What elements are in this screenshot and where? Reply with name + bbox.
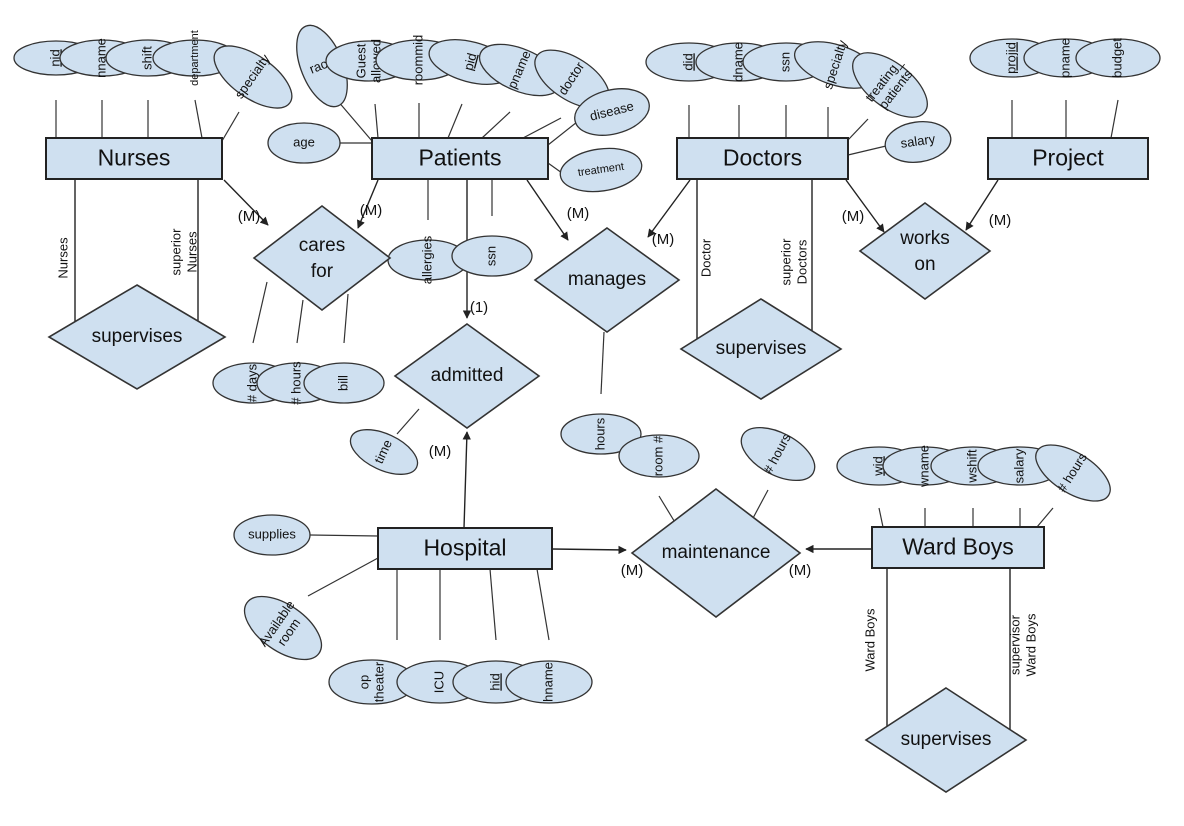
er-diagram-canvas: nidnnameshiftdepartmentspecialtyageraceG… (0, 0, 1184, 826)
attribute-salary[interactable]: salary (883, 118, 954, 167)
cardinality-label: (M) (621, 562, 644, 579)
attribute-label: allergies (419, 235, 434, 284)
relationship-supervises-doctors[interactable]: supervises (681, 299, 841, 399)
entity-wardboys[interactable]: Ward Boys (872, 527, 1044, 568)
attribute-label: roommid (410, 35, 425, 86)
role-label-nurses: Nurses (55, 237, 70, 279)
role-label-superior-nurses: superiorNurses (168, 228, 199, 276)
attribute-ellipses-layer: nidnnameshiftdepartmentspecialtyageraceG… (14, 18, 1160, 704)
attribute-label: age (293, 134, 315, 149)
relationship-label: supervises (716, 338, 807, 359)
relationship-label: works (899, 228, 950, 249)
relationship-diamond (860, 203, 990, 299)
relationship-label: for (311, 261, 334, 282)
entity-label: Doctors (723, 145, 802, 171)
attribute-label: wshift (964, 449, 979, 484)
entity-label: Ward Boys (902, 534, 1014, 560)
attribute-treatment[interactable]: treatment (557, 143, 644, 196)
attribute-label: wname (916, 445, 931, 488)
attribute-label: ICU (431, 671, 446, 693)
role-label-text: Nurses (55, 237, 70, 279)
role-label-text: Nurses (184, 231, 199, 273)
attribute-age[interactable]: age (268, 123, 340, 163)
cardinality-label: (M) (238, 208, 261, 225)
relationship-label: manages (568, 269, 646, 290)
attribute-label: hours (592, 417, 607, 450)
role-label-ward-boys: Ward Boys (862, 608, 877, 672)
role-label-text: supervisor (1007, 614, 1022, 675)
relationship-cares-for[interactable]: caresfor (254, 206, 390, 310)
role-label-text: Ward Boys (1023, 613, 1038, 677)
entity-patients[interactable]: Patients (372, 138, 548, 179)
entity-hospital[interactable]: Hospital (378, 528, 552, 569)
attribute-label: theater (371, 661, 386, 702)
entity-label: Hospital (423, 535, 506, 561)
attribute-label: projid (1003, 42, 1018, 74)
attribute-label: Guest (353, 43, 368, 78)
relationship-label: on (914, 254, 935, 275)
attribute-label: ssn (777, 52, 792, 72)
attribute-label: supplies (248, 526, 296, 541)
entity-project[interactable]: Project (988, 138, 1148, 179)
attribute-label: bill (335, 375, 350, 391)
attribute-label: ssn (483, 246, 498, 266)
attribute-label: hid (487, 673, 502, 690)
role-label-supervisor-ward-boys: supervisorWard Boys (1007, 613, 1038, 677)
relationship-supervises-wardboys[interactable]: supervises (866, 688, 1026, 792)
attribute-label: shift (139, 46, 154, 70)
attribute-available-room[interactable]: Availableroom (232, 581, 334, 675)
cardinality-label: (M) (842, 208, 865, 225)
attribute-label: hname (540, 662, 555, 702)
relationship-diamonds-layer: supervisescaresforadmittedmanagessupervi… (49, 203, 1026, 792)
role-label-doctor: Doctor (698, 238, 713, 277)
relationship-diamond (254, 206, 390, 310)
relationship-label: admitted (431, 365, 504, 386)
relationship-maintenance[interactable]: maintenance (632, 489, 800, 617)
relationship-label: cares (299, 235, 345, 256)
relationship-label: supervises (901, 729, 992, 750)
attribute-label: salary (1011, 448, 1026, 483)
role-label-text: superior (778, 238, 793, 286)
attribute-bill[interactable]: bill (304, 363, 384, 403)
relationship-label: supervises (92, 326, 183, 347)
role-label-text: Doctors (794, 239, 809, 284)
relationship-label: maintenance (662, 542, 771, 563)
attribute-supplies[interactable]: supplies (234, 515, 310, 555)
attribute-label: department (189, 30, 201, 86)
attribute-label: pname (1057, 38, 1072, 78)
cardinality-label: (M) (989, 212, 1012, 229)
attribute-ssn[interactable]: ssn (452, 236, 532, 276)
attribute-label: # hours (288, 361, 303, 405)
entity-label: Project (1032, 145, 1104, 171)
cardinality-label: (M) (429, 443, 452, 460)
entity-label: Patients (418, 145, 501, 171)
role-label-text: Doctor (698, 238, 713, 277)
entity-nurses[interactable]: Nurses (46, 138, 222, 179)
attribute-room[interactable]: room # (619, 435, 699, 477)
cardinality-label: (M) (567, 205, 590, 222)
entity-doctors[interactable]: Doctors (677, 138, 848, 179)
role-label-text: Ward Boys (862, 608, 877, 672)
cardinality-label: (1) (470, 299, 488, 316)
er-diagram-svg: nidnnameshiftdepartmentspecialtyageraceG… (0, 0, 1184, 826)
cardinality-label: (M) (360, 202, 383, 219)
attribute-budget[interactable]: budget (1076, 38, 1160, 78)
cardinality-label: (M) (789, 562, 812, 579)
attribute-label: budget (1109, 38, 1124, 78)
attribute-label: room # (650, 435, 665, 476)
attribute-label: did (680, 53, 695, 70)
attribute-time[interactable]: time (344, 420, 424, 483)
cardinality-label: (M) (652, 231, 675, 248)
role-label-text: superior (168, 228, 183, 276)
attribute-label: op (356, 675, 371, 689)
attribute-hours[interactable]: # hours (733, 416, 824, 492)
attribute-hname[interactable]: hname (506, 661, 592, 703)
role-label-superior-doctors: superiorDoctors (778, 238, 809, 286)
relationship-works-on[interactable]: workson (860, 203, 990, 299)
entity-label: Nurses (98, 145, 171, 171)
